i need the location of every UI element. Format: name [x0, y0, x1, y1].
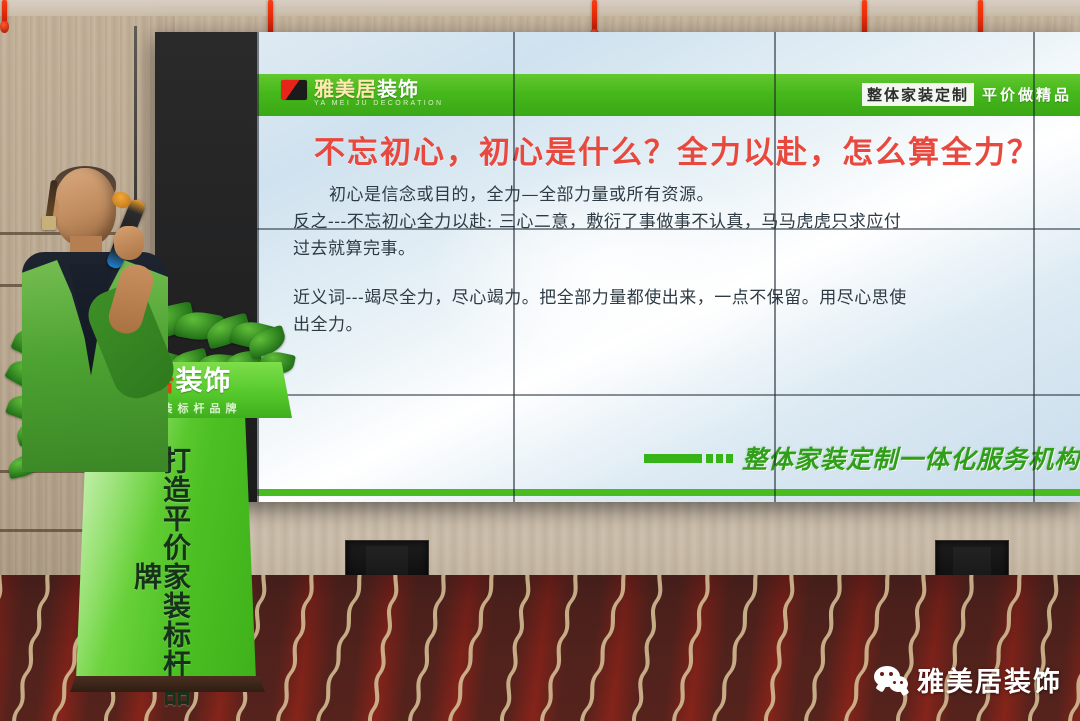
- panel-seam: [774, 32, 776, 502]
- watermark: 雅美居装饰: [874, 660, 1062, 699]
- logo-text-secondary: 装饰: [377, 79, 419, 101]
- slide-footer-text: 整体家装定制一体化服务机构: [742, 440, 1080, 476]
- slide-body-line: 初心是信念或目的，全力—全部力量或所有资源。: [293, 182, 1080, 209]
- slide-bottom-green-line: [257, 489, 1080, 496]
- tassel-decoration: [592, 0, 597, 34]
- slide-body-line: 过去就算完事。: [293, 236, 1080, 263]
- tagline-boxed: 整体家装定制: [862, 83, 974, 106]
- watermark-text: 雅美居装饰: [917, 660, 1062, 699]
- slide-body-line: 近义词---竭尽全力，尽心竭力。把全部力量都使出来，一点不保留。用尽心思使: [293, 285, 1080, 312]
- footer-bar-icon: [644, 454, 702, 463]
- presentation-slide: 雅美居装饰 YA MEI JU DECORATION 整体家装定制 平价做精品 …: [257, 32, 1080, 502]
- panel-seam: [513, 32, 515, 502]
- head: [54, 168, 116, 246]
- speaker-person: [8, 168, 183, 588]
- slide-header-band: 雅美居装饰 YA MEI JU DECORATION 整体家装定制 平价做精品: [257, 74, 1080, 116]
- tassel-decoration: [2, 0, 7, 26]
- slide-body-line: 反之---不忘初心全力以赴: 三心二意，敷衍了事做事不认真，马马虎虎只求应付: [293, 209, 1080, 236]
- slide-title: 不忘初心，初心是什么？全力以赴，怎么算全力？: [297, 127, 1057, 172]
- panel-seam: [1033, 32, 1035, 502]
- hand: [114, 226, 144, 260]
- lanyard-tag: [42, 216, 56, 230]
- logo-english-text: YA MEI JU DECORATION: [314, 100, 443, 107]
- slide-band-tagline: 整体家装定制 平价做精品: [862, 83, 1072, 106]
- tagline-plain: 平价做精品: [982, 84, 1072, 105]
- wechat-icon: [874, 666, 908, 694]
- slide-body: 初心是信念或目的，全力—全部力量或所有资源。 反之---不忘初心全力以赴: 三心…: [293, 182, 1080, 339]
- presentation-photo: 雅美居装饰 YA MEI JU DECORATION 整体家装定制 平价做精品 …: [0, 0, 1080, 721]
- podium-base: [70, 676, 265, 692]
- slide-body-spacer: [293, 263, 1080, 285]
- slide-footer: 整体家装定制一体化服务机构: [257, 436, 1080, 480]
- logo-text-primary: 雅美居: [314, 79, 377, 101]
- podium-brand-secondary: 装饰: [176, 366, 232, 397]
- slide-body-line: 出全力。: [293, 312, 1080, 339]
- footer-dots-icon: [706, 454, 733, 463]
- logo-text: 雅美居装饰: [314, 80, 419, 100]
